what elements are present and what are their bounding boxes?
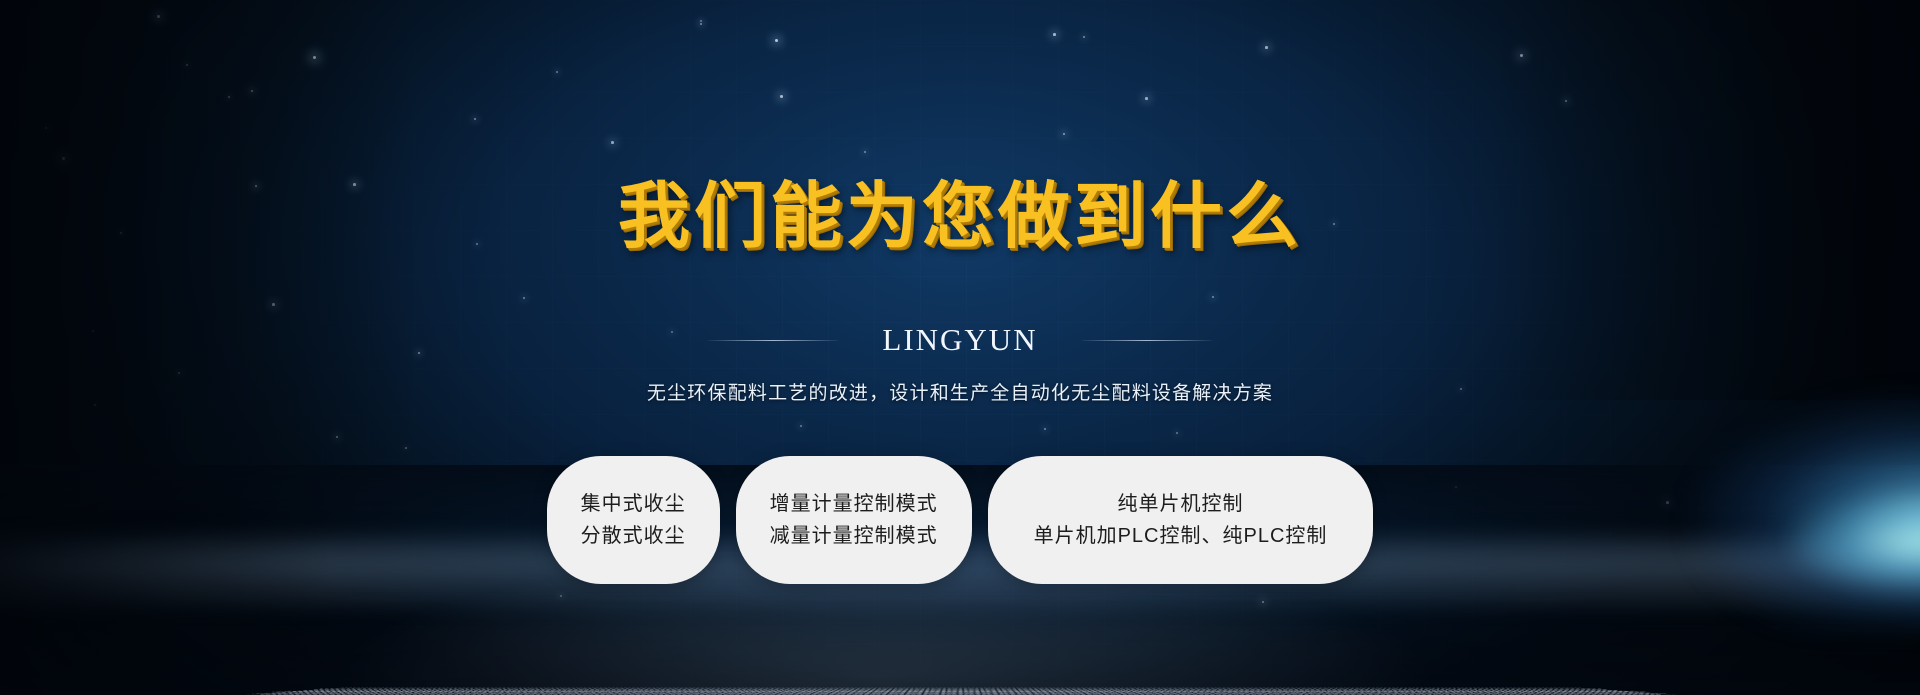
banner-description: 无尘环保配料工艺的改进，设计和生产全自动化无尘配料设备解决方案 [647,378,1273,405]
feature-pill-metering-mode[interactable]: 增量计量控制模式 减量计量控制模式 [736,456,972,584]
pill-line: 单片机加PLC控制、纯PLC控制 [1034,526,1328,546]
page-title: 我们能为您做到什么 [618,180,1302,252]
feature-pill-control-system[interactable]: 纯单片机控制 单片机加PLC控制、纯PLC控制 [988,456,1374,584]
pill-line: 分散式收尘 [581,526,686,546]
feature-pill-dust-collection[interactable]: 集中式收尘 分散式收尘 [547,456,720,584]
pill-line: 增量计量控制模式 [770,494,938,514]
banner-content: 我们能为您做到什么 LINGYUN 无尘环保配料工艺的改进，设计和生产全自动化无… [0,0,1920,695]
hero-banner: 我们能为您做到什么 LINGYUN 无尘环保配料工艺的改进，设计和生产全自动化无… [0,0,1920,695]
rule-right-decoration [1082,340,1212,341]
pill-line: 纯单片机控制 [1118,494,1244,514]
brand-subtitle-row: LINGYUN [708,322,1211,358]
brand-name-en: LINGYUN [882,322,1037,358]
rule-left-decoration [708,340,838,341]
feature-pill-group: 集中式收尘 分散式收尘 增量计量控制模式 减量计量控制模式 纯单片机控制 单片机… [547,456,1374,584]
pill-line: 减量计量控制模式 [770,526,938,546]
pill-line: 集中式收尘 [581,494,686,514]
